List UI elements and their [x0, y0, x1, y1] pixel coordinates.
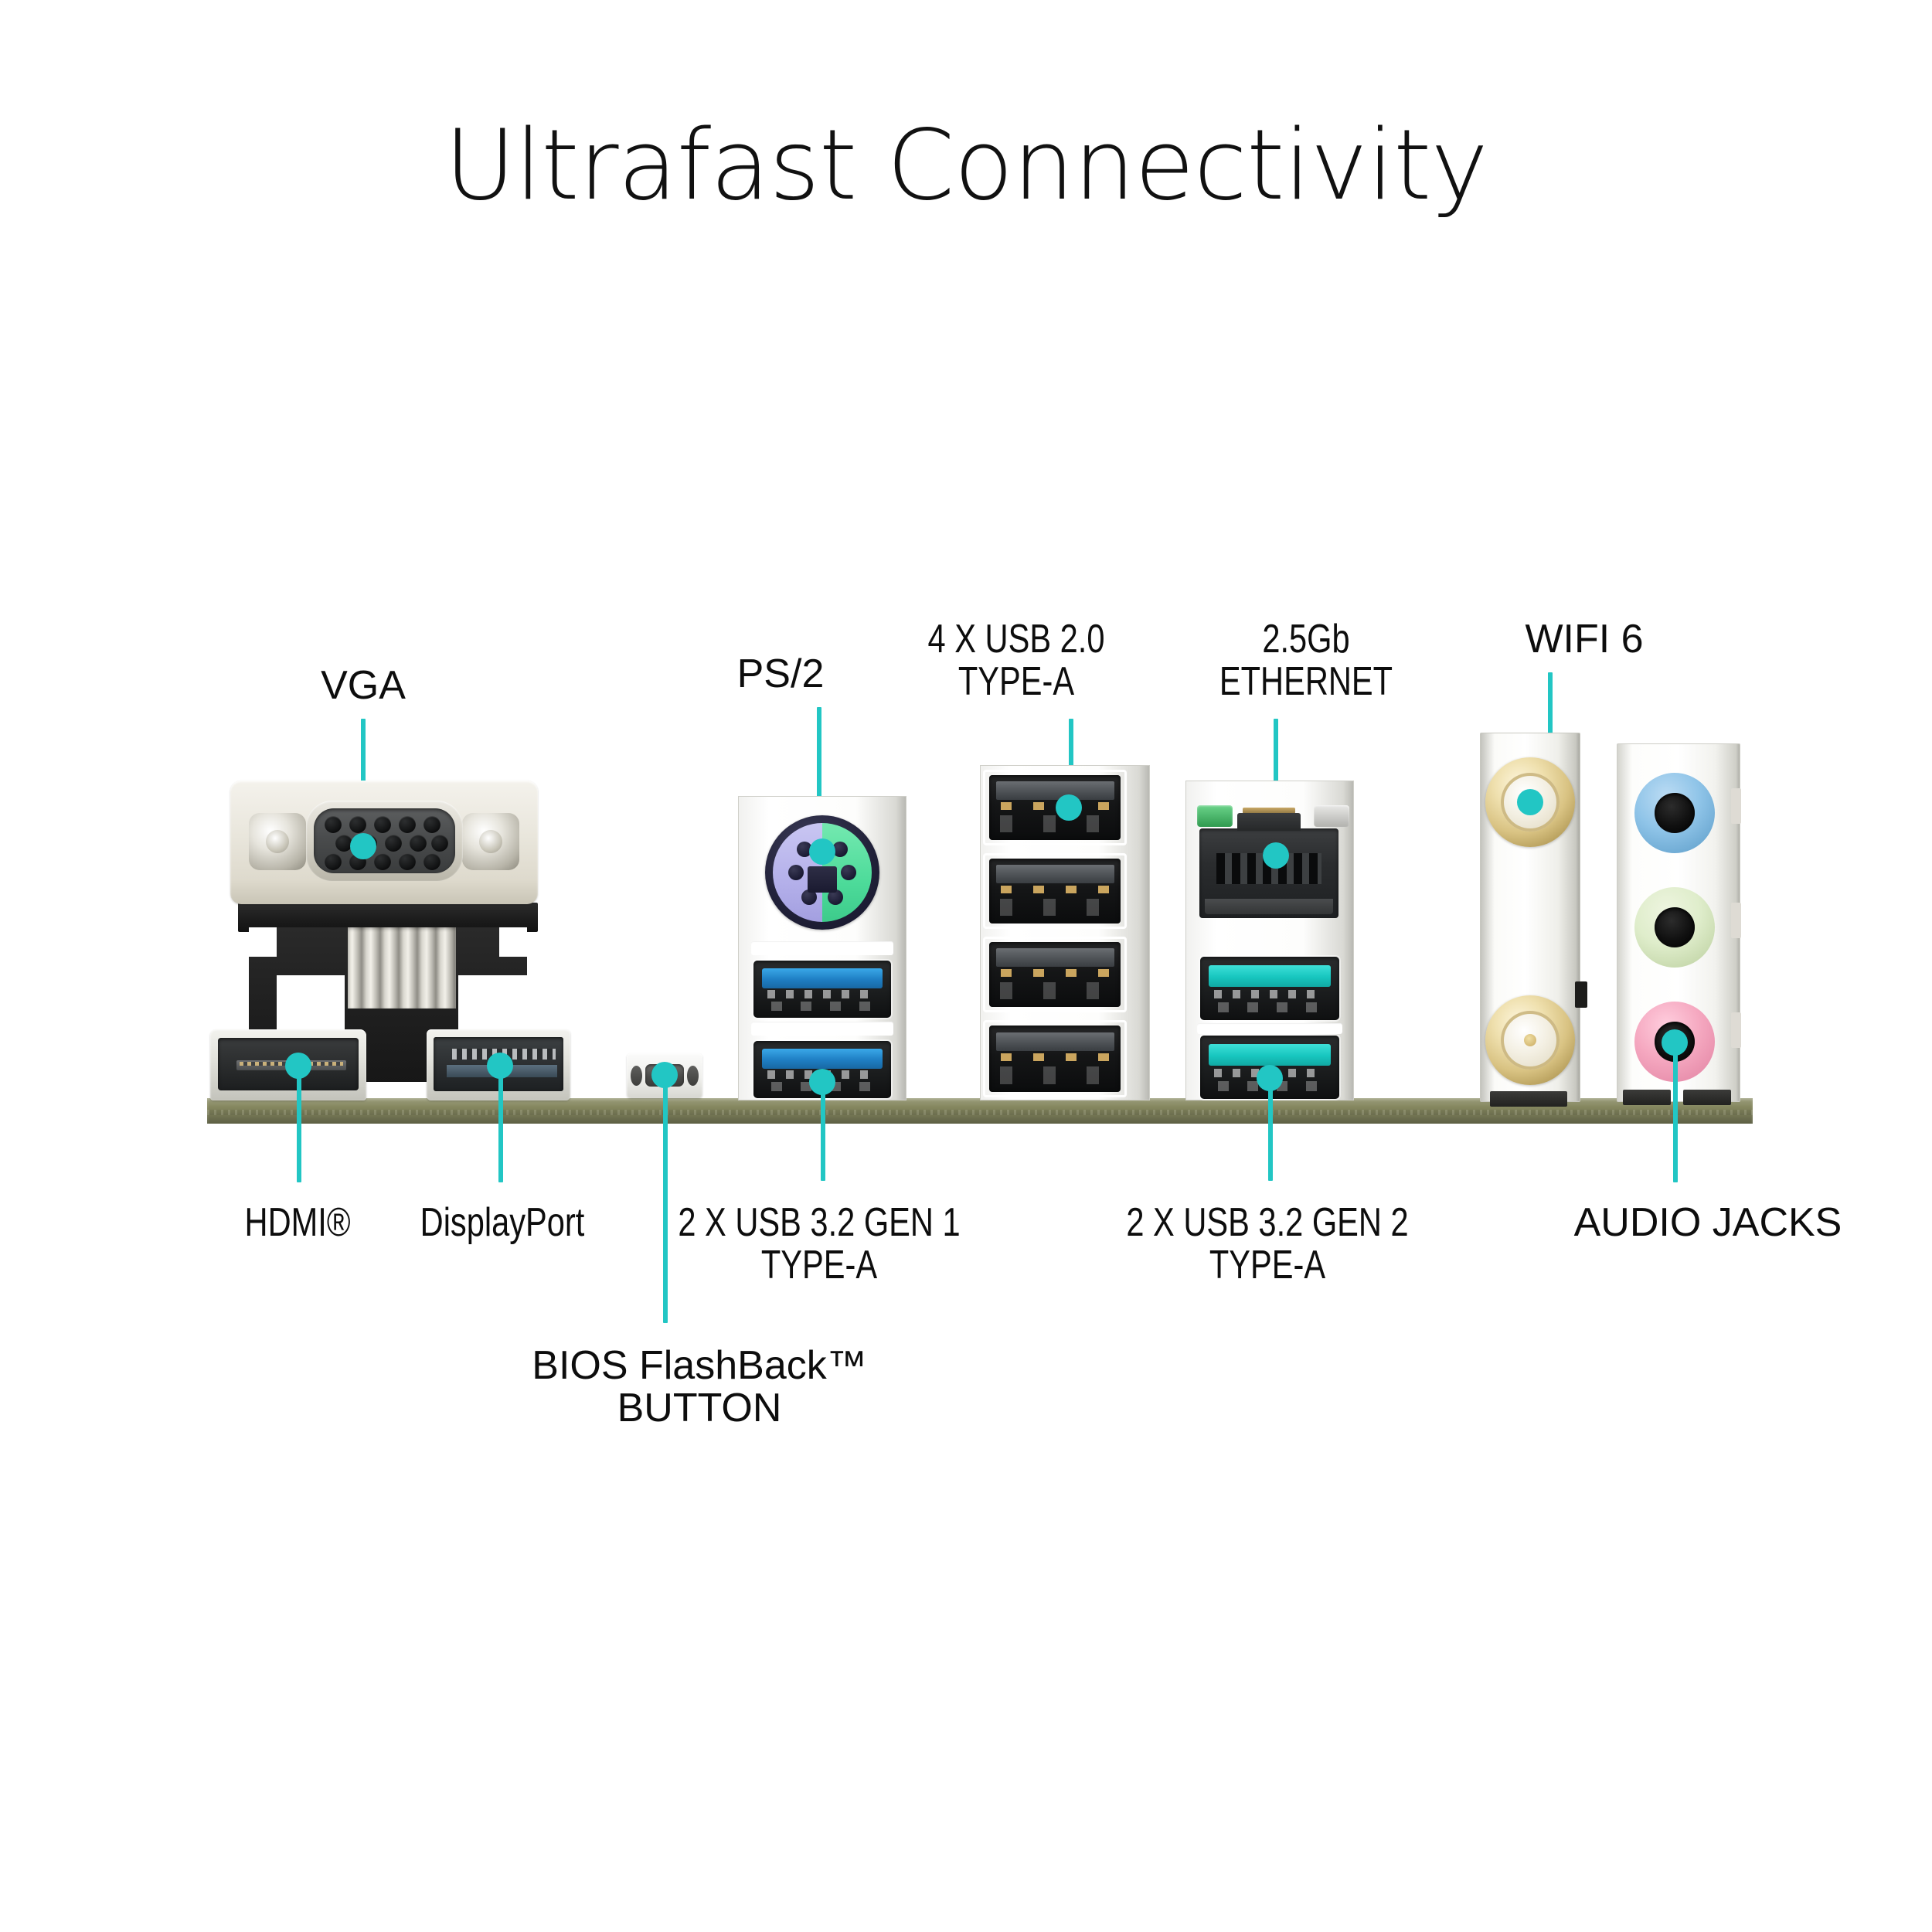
usb32-gen1-2-tongue: [762, 1049, 883, 1068]
bios-flashback-pad-left: [631, 1066, 642, 1086]
vga-heatsink-fins: [348, 927, 456, 1009]
ethernet-led-status: [1314, 805, 1349, 827]
callout-label-ethernet: 2.5Gb ETHERNET: [1144, 618, 1468, 703]
port-ethernet[interactable]: [1199, 828, 1338, 918]
callout-label-ethernet-line2: ETHERNET: [1176, 661, 1436, 703]
vga-screw-left: [249, 813, 306, 870]
vga-screw-right: [462, 813, 519, 870]
leader-line-displayport: [498, 1066, 503, 1182]
callout-label-usb32-gen1-line1: 2 X USB 3.2 GEN 1: [671, 1202, 968, 1244]
usb32-gen1-1-clips: [771, 1002, 873, 1011]
callout-label-usb32-gen1-line2: TYPE-A: [671, 1244, 968, 1287]
audio-bracket-foot-left: [1623, 1090, 1671, 1105]
callout-label-bios: BIOS FlashBack™ BUTTON: [483, 1345, 916, 1430]
port-usb20-4[interactable]: [989, 1026, 1121, 1092]
usb32-gen2-1-tongue: [1209, 965, 1331, 987]
ethernet-led-green: [1197, 805, 1233, 827]
usb32-gen1-1-contacts: [767, 990, 877, 998]
leader-line-audio: [1673, 1043, 1678, 1182]
callout-label-bios-line2: BUTTON: [483, 1387, 916, 1430]
callout-label-displayport: DisplayPort: [391, 1202, 614, 1244]
vga-pin-array: [314, 808, 455, 873]
usb20-1-contacts: [1001, 802, 1108, 809]
audio-jack-line-in[interactable]: [1634, 773, 1715, 853]
port-usb32-gen1-1[interactable]: [753, 961, 891, 1018]
usb20-3-tongue: [996, 948, 1114, 967]
ps2-usb-separator-1: [751, 941, 893, 955]
io-panel-diagram: Ultrafast Connectivity VGA PS/2 4 X USB …: [0, 0, 1932, 1932]
ps2-usb-separator-2: [751, 1022, 893, 1036]
usb20-1-clips: [1000, 815, 1111, 832]
audio-bracket-tab-1: [1731, 788, 1741, 824]
callout-dot-ps2: [809, 838, 835, 865]
usb32-gen2-1-contacts: [1214, 990, 1325, 998]
callout-label-usb32-gen2-line2: TYPE-A: [1119, 1244, 1416, 1287]
port-usb20-3[interactable]: [989, 942, 1121, 1007]
usb20-2-contacts: [1001, 886, 1108, 893]
bios-flashback-pad-right: [687, 1066, 699, 1086]
callout-label-usb32-gen2-line1: 2 X USB 3.2 GEN 2: [1119, 1202, 1416, 1244]
callout-label-wifi6: WIFI 6: [1437, 618, 1731, 661]
usb32-gen1-1-tongue: [762, 968, 883, 988]
vga-bracket-notch-right: [499, 927, 527, 957]
leader-line-usb32-gen2: [1268, 1079, 1273, 1181]
audio-bracket-tab-2: [1731, 903, 1741, 938]
usb20-4-clips: [1000, 1066, 1111, 1083]
usb20-3-contacts: [1001, 969, 1108, 976]
usb20-1-tongue: [996, 781, 1114, 800]
ethernet-latch-tab: [1237, 813, 1301, 831]
audio-bracket-foot-right: [1683, 1090, 1731, 1105]
port-ps2[interactable]: [765, 815, 879, 930]
callout-dot-vga: [350, 833, 376, 859]
vga-dsub-shell: [306, 801, 463, 881]
callout-label-ethernet-line1: 2.5Gb: [1176, 618, 1436, 661]
callout-dot-wifi6: [1517, 789, 1543, 815]
vga-dsub-cavity: [314, 808, 455, 873]
ps2-key-slot: [808, 866, 837, 893]
callout-label-usb20-line2: TYPE-A: [883, 661, 1149, 703]
usb32-gen2-1-clips: [1218, 1002, 1321, 1012]
callout-label-vga: VGA: [255, 665, 471, 707]
usb20-2-tongue: [996, 865, 1114, 883]
callout-dot-usb20: [1056, 794, 1082, 821]
callout-label-usb20: 4 X USB 2.0 TYPE-A: [850, 618, 1182, 703]
usb20-2-clips: [1000, 899, 1111, 916]
wifi-bracket-nub: [1575, 981, 1587, 1008]
ethernet-lower-lip: [1205, 899, 1333, 915]
callout-label-hdmi: HDMI®: [192, 1202, 403, 1244]
usb20-4-contacts: [1001, 1053, 1108, 1060]
callout-label-usb32-gen1: 2 X USB 3.2 GEN 1 TYPE-A: [634, 1202, 1005, 1287]
ethernet-usb-separator: [1197, 1023, 1342, 1034]
audio-jack-line-out[interactable]: [1634, 887, 1715, 968]
leader-line-usb32-gen1: [821, 1082, 825, 1181]
usb32-gen2-2-tongue: [1209, 1044, 1331, 1066]
port-usb20-2[interactable]: [989, 859, 1121, 923]
leader-line-hdmi: [297, 1066, 301, 1182]
page-title: Ultrafast Connectivity: [0, 108, 1932, 222]
wifi-antenna-connector-bottom[interactable]: [1485, 995, 1575, 1085]
callout-dot-ethernet: [1263, 842, 1289, 869]
wifi-bracket-foot: [1490, 1091, 1567, 1107]
port-usb32-gen2-1[interactable]: [1200, 957, 1339, 1020]
usb20-3-clips: [1000, 982, 1111, 999]
vga-bracket-notch-left: [249, 927, 277, 957]
callout-label-bios-line1: BIOS FlashBack™: [483, 1345, 916, 1387]
callout-label-audio: AUDIO JACKS: [1492, 1202, 1924, 1244]
port-usb20-1[interactable]: [989, 775, 1121, 840]
callout-label-usb20-line1: 4 X USB 2.0: [883, 618, 1149, 661]
usb20-4-tongue: [996, 1032, 1114, 1051]
audio-bracket-tab-3: [1731, 1012, 1741, 1048]
callout-label-usb32-gen2: 2 X USB 3.2 GEN 2 TYPE-A: [1082, 1202, 1453, 1287]
